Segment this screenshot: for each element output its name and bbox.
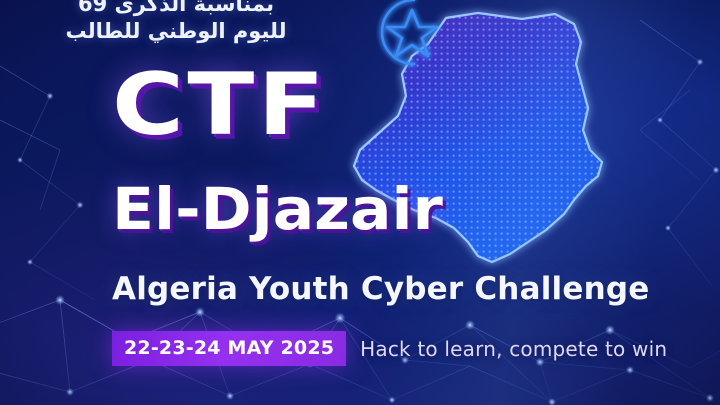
- title-el-djazair: El-Djazair: [112, 180, 443, 238]
- arabic-headline-line-2: لليوم الوطني للطالب: [0, 18, 352, 44]
- footer-row: 22-23-24 MAY 2025 Hack to learn, compete…: [112, 331, 667, 366]
- ctf-poster: بمناسبة الذكرى 69 لليوم الوطني للطالب CT…: [0, 0, 720, 405]
- event-date-badge: 22-23-24 MAY 2025: [112, 331, 346, 366]
- event-tagline: Algeria Youth Cyber Challenge: [112, 271, 649, 307]
- event-slogan: Hack to learn, compete to win: [360, 338, 667, 360]
- poster-content: بمناسبة الذكرى 69 لليوم الوطني للطالب CT…: [0, 0, 720, 405]
- arabic-headline-line-1: بمناسبة الذكرى 69: [0, 0, 352, 17]
- title-ctf: CTF: [112, 62, 328, 148]
